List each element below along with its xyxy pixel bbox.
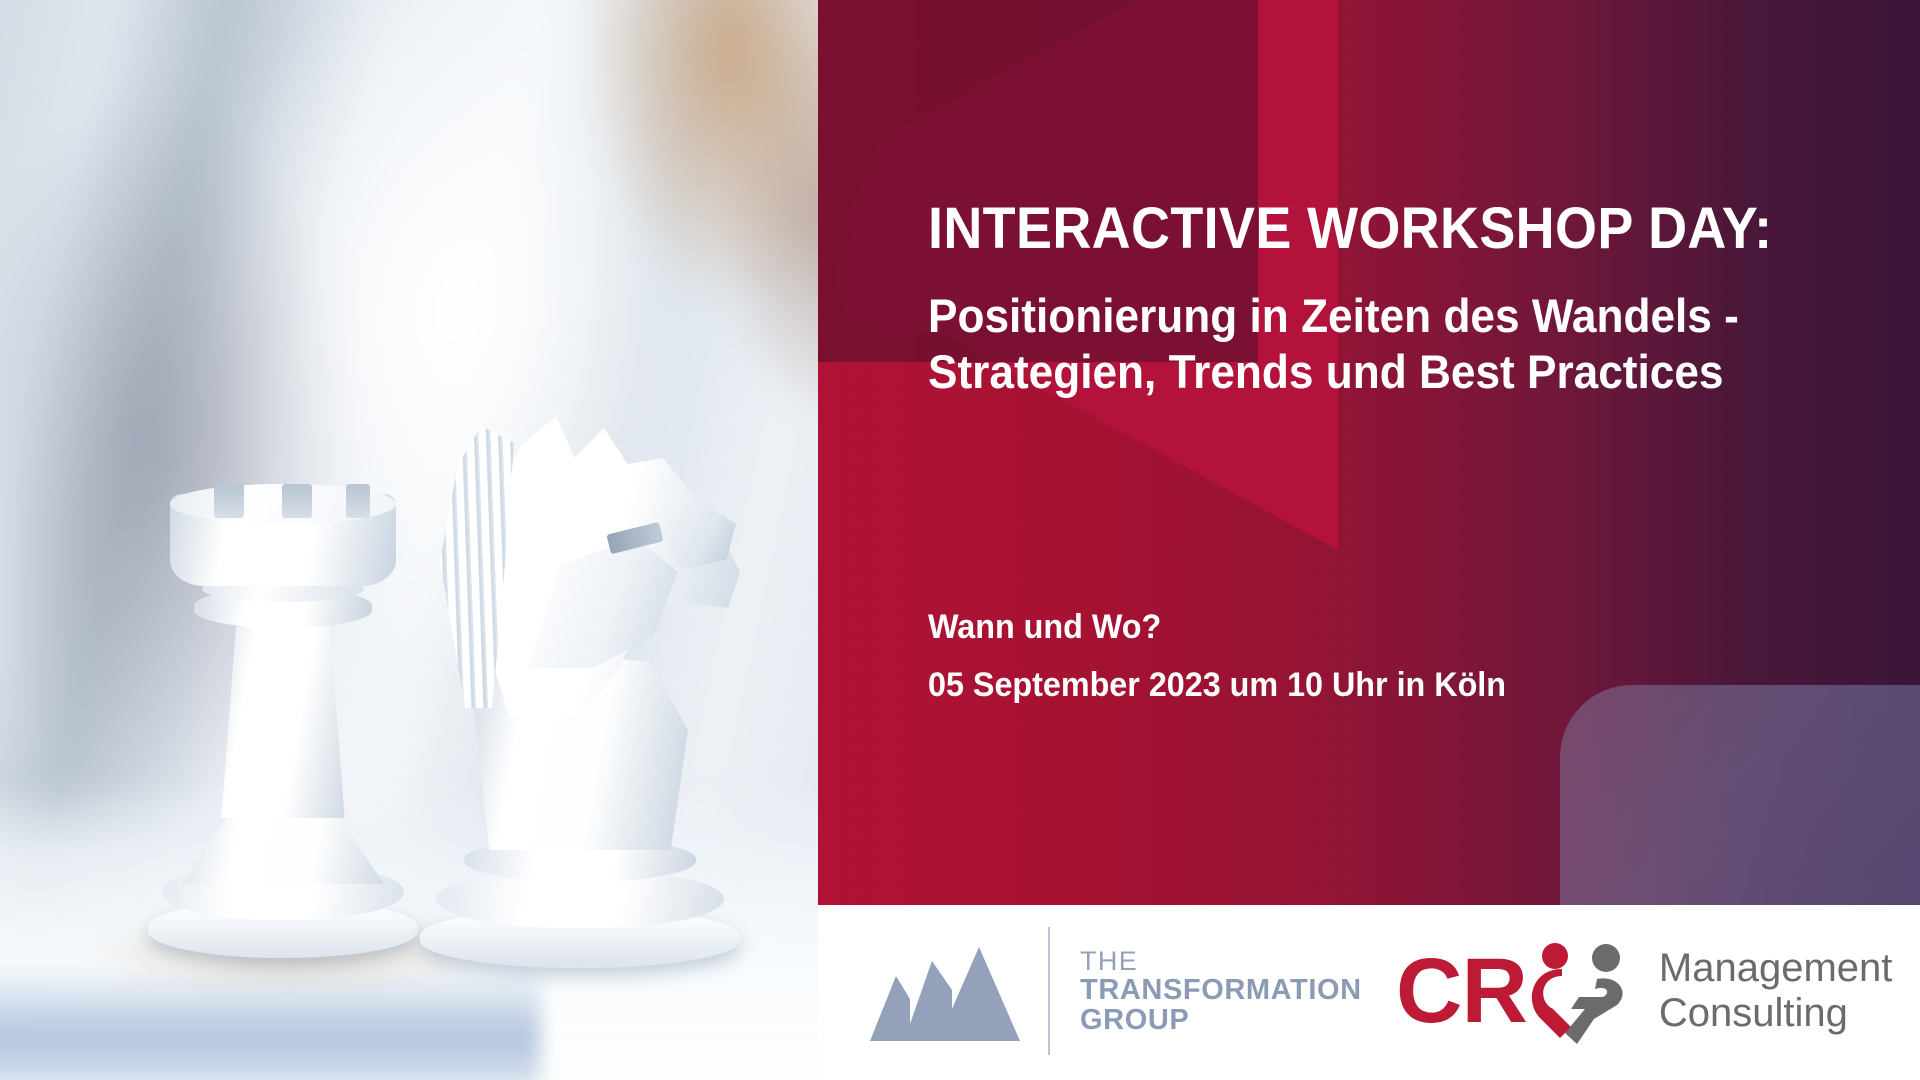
chess-photo [0, 0, 818, 1080]
cr-line-consulting: Consulting [1659, 991, 1892, 1036]
logo-cr-management-consulting[interactable]: CR Management Consulting [1396, 929, 1892, 1053]
logo-transformation-group[interactable]: THE TRANSFORMATION GROUP [848, 931, 1362, 1051]
transformation-group-wordmark: THE TRANSFORMATION GROUP [1080, 947, 1362, 1035]
subtitle-line-1: Positionierung in Zeiten des Wandels - [928, 288, 1739, 344]
tg-line-transformation: TRANSFORMATION [1080, 975, 1362, 1005]
subtitle-line-2: Strategien, Trends und Best Practices [928, 344, 1739, 400]
two-people-icon [1531, 939, 1649, 1049]
chess-knight-icon [420, 378, 740, 968]
when-where-value: 05 September 2023 um 10 Uhr in Köln [928, 666, 1506, 705]
logo-divider [1048, 927, 1050, 1055]
text-block: INTERACTIVE WORKSHOP DAY: Positionierung… [928, 0, 1908, 905]
when-where-label: Wann und Wo? [928, 608, 1161, 647]
event-banner: INTERACTIVE WORKSHOP DAY: Positionierung… [0, 0, 1920, 1080]
content-panel: INTERACTIVE WORKSHOP DAY: Positionierung… [818, 0, 1920, 905]
cr-line-management: Management [1659, 946, 1892, 991]
chess-rook-icon [148, 458, 418, 958]
three-mountains-icon [848, 937, 1026, 1045]
logo-bar: THE TRANSFORMATION GROUP CR Management C… [818, 905, 1920, 1080]
subtitle: Positionierung in Zeiten des Wandels - S… [928, 288, 1739, 400]
cr-letters: CR [1396, 945, 1527, 1037]
page-title: INTERACTIVE WORKSHOP DAY: [928, 200, 1772, 258]
tg-line-the: THE [1080, 947, 1362, 975]
cr-wordmark: Management Consulting [1659, 946, 1892, 1036]
tg-line-group: GROUP [1080, 1005, 1362, 1035]
